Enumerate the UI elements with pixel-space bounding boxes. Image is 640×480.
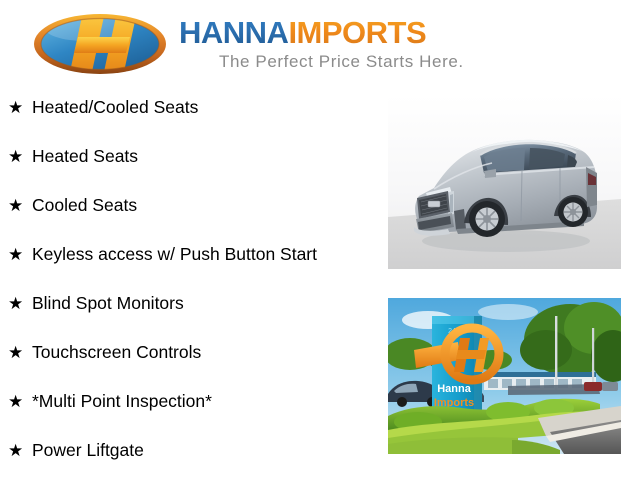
star-bullet-icon: ★ <box>8 246 22 263</box>
star-bullet-icon: ★ <box>8 344 22 361</box>
list-item: ★ *Multi Point Inspection* <box>8 389 212 413</box>
feature-list: ★ Heated/Cooled Seats ★ Heated Seats ★ C… <box>0 92 380 480</box>
dealership-photo[interactable]: 240 Hanna Imports <box>388 298 621 454</box>
list-item: ★ Blind Spot Monitors <box>8 291 184 315</box>
header-banner: HANNAIMPORTS The Perfect Price Starts He… <box>0 0 640 92</box>
star-bullet-icon: ★ <box>8 393 22 410</box>
star-bullet-icon: ★ <box>8 442 22 459</box>
feature-label: Touchscreen Controls <box>32 342 201 363</box>
list-item: ★ Heated Seats <box>8 144 138 168</box>
brand-wordmark: HANNAIMPORTS <box>179 16 426 50</box>
brand-tagline: The Perfect Price Starts Here. <box>219 52 464 72</box>
brand-name-imports: IMPORTS <box>288 15 426 50</box>
sign-text-hanna: Hanna <box>437 383 472 395</box>
brand-name-hanna: HANNA <box>179 15 288 50</box>
list-item: ★ Power Liftgate <box>8 438 144 462</box>
hanna-oval-h-emblem-icon <box>32 13 168 75</box>
list-item: ★ Keyless access w/ Push Button Start <box>8 242 317 266</box>
feature-label: Heated Seats <box>32 146 138 167</box>
vehicle-feature-flyer: HANNAIMPORTS The Perfect Price Starts He… <box>0 0 640 480</box>
list-item: ★ Cooled Seats <box>8 193 137 217</box>
star-bullet-icon: ★ <box>8 148 22 165</box>
list-item: ★ Heated/Cooled Seats <box>8 95 198 119</box>
feature-label: Blind Spot Monitors <box>32 293 184 314</box>
list-item: ★ Touchscreen Controls <box>8 340 201 364</box>
feature-label: *Multi Point Inspection* <box>32 391 212 412</box>
feature-label: Heated/Cooled Seats <box>32 97 198 118</box>
vehicle-photo[interactable] <box>388 95 621 269</box>
star-bullet-icon: ★ <box>8 99 22 116</box>
star-bullet-icon: ★ <box>8 197 22 214</box>
feature-label: Power Liftgate <box>32 440 144 461</box>
star-bullet-icon: ★ <box>8 295 22 312</box>
feature-label: Cooled Seats <box>32 195 137 216</box>
feature-label: Keyless access w/ Push Button Start <box>32 244 317 265</box>
